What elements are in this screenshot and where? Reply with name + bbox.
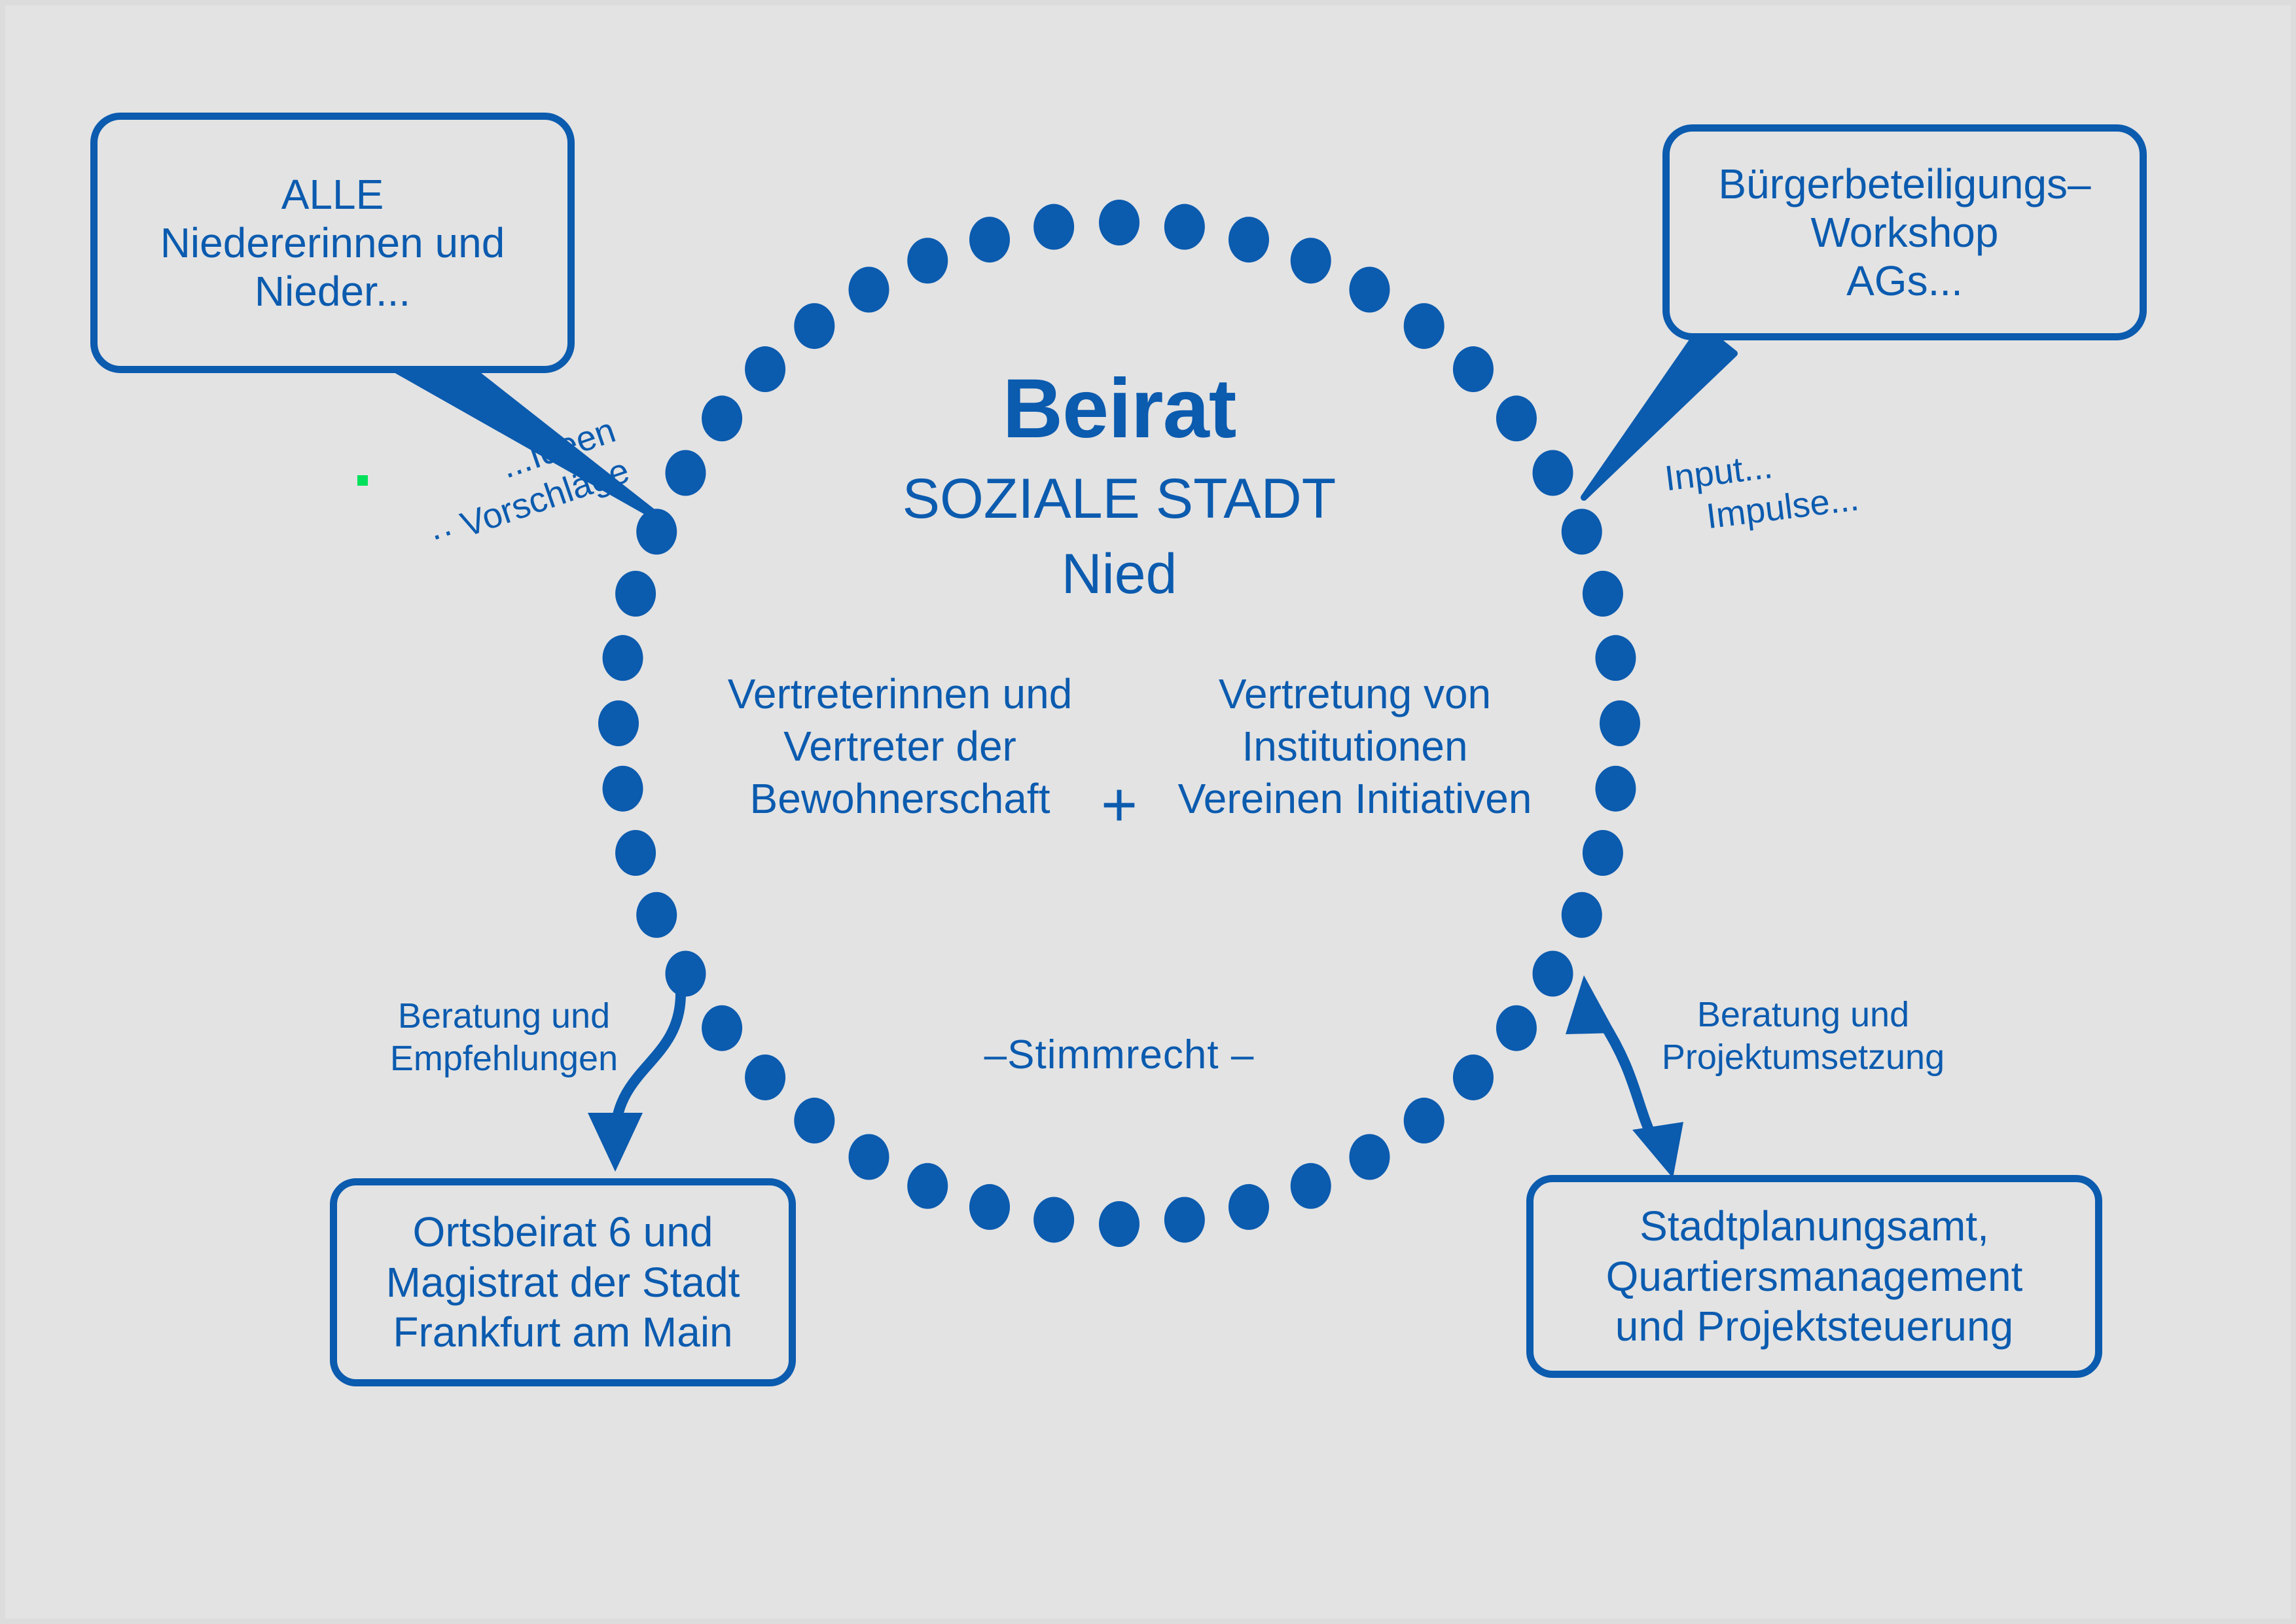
subtitle-soziale-stadt: SOZIALE STADT <box>825 468 1414 530</box>
arrowhead-down-left <box>588 1113 643 1172</box>
column-right-line: Vereinen <box>1178 775 1344 822</box>
speech-bubble-alle-niedererinnen[interactable]: ALLE Niedererinnen und Nieder... <box>90 113 575 373</box>
label-line: Empfehlungen <box>367 1038 641 1080</box>
green-marker-dot <box>357 475 368 486</box>
column-right-line: Vertretung <box>1219 670 1412 717</box>
ring-dot <box>745 1055 785 1100</box>
ring-dot <box>1229 217 1269 262</box>
label-beratung-projektumsetzung: Beratung und Projektumsetzung <box>1630 994 1977 1079</box>
label-line: Beratung und <box>367 995 641 1038</box>
ring-dot <box>1164 204 1205 250</box>
column-institutionen: Vertretung von Institutionen Vereinen In… <box>1172 668 1538 825</box>
ring-dot <box>1033 204 1074 250</box>
ring-dot <box>907 1163 948 1209</box>
ring-dot <box>1600 700 1640 746</box>
ring-dot <box>1533 951 1573 997</box>
column-right-line: Institutionen <box>1242 723 1467 770</box>
box-ortsbeirat-magistrat[interactable]: Ortsbeirat 6 und Magistrat der Stadt Fra… <box>330 1178 796 1386</box>
ring-dot <box>1164 1197 1205 1242</box>
ring-dot <box>1583 830 1623 876</box>
column-right-line: Initiativen <box>1355 775 1532 822</box>
column-left-line: Vertreter <box>783 723 944 770</box>
box-stadtplanungsamt[interactable]: Stadtplanungsamt, Quartiersmanagement un… <box>1526 1175 2102 1378</box>
column-left-line: der <box>956 723 1016 770</box>
label-line: Beratung und <box>1630 994 1977 1036</box>
ring-dot <box>636 892 677 938</box>
bubble-line: Workshop <box>1811 208 1999 257</box>
ring-dot <box>702 395 742 441</box>
ring-dot <box>665 951 706 997</box>
ring-dot <box>615 571 656 617</box>
bubble-line: Nieder... <box>255 267 410 316</box>
box-line: Frankfurt am Main <box>393 1307 732 1358</box>
ring-dot <box>1229 1184 1269 1230</box>
column-right-line: von <box>1424 670 1491 717</box>
ring-dot <box>1291 1163 1331 1209</box>
ring-dot <box>1583 571 1623 617</box>
ring-dot <box>1350 1134 1390 1180</box>
label-line: Projektumsetzung <box>1630 1036 1977 1079</box>
ring-dot <box>615 830 656 876</box>
stimmrecht-note: –Stimmrecht – <box>903 1033 1335 1077</box>
speech-bubble-buergerbeteiligung[interactable]: Bürgerbeteiligungs– Workshop AGs... <box>1662 124 2147 340</box>
ring-dot <box>1350 266 1390 312</box>
page-title: Beirat <box>857 363 1381 456</box>
column-left-line: und <box>1003 670 1073 717</box>
ring-dot <box>969 1184 1010 1230</box>
ring-dot <box>1595 635 1636 681</box>
ring-dot <box>907 238 948 283</box>
ring-dot <box>1595 766 1636 812</box>
ring-dot <box>794 1098 834 1144</box>
ring-dot <box>1453 346 1494 392</box>
column-bewohnerschaft: Vertreterinnen und Vertreter der Bewohne… <box>697 668 1103 825</box>
ring-dot <box>1496 1005 1537 1051</box>
ring-dot <box>603 766 643 812</box>
ring-dot <box>849 266 889 312</box>
ring-dot <box>794 303 834 349</box>
column-left-line: Bewohnerschaft <box>750 775 1050 822</box>
box-line: Quartiersmanagement <box>1606 1252 2023 1302</box>
label-beratung-empfehlungen: Beratung und Empfehlungen <box>367 995 641 1080</box>
bubble-line: Niedererinnen und <box>160 219 505 267</box>
box-line: Stadtplanungsamt, <box>1640 1201 1989 1252</box>
ring-dot <box>969 217 1010 262</box>
ring-dot <box>598 700 639 746</box>
ring-dot <box>603 635 643 681</box>
box-line: Magistrat der Stadt <box>386 1257 740 1308</box>
ring-dot <box>1033 1197 1074 1242</box>
ring-dot <box>665 450 706 496</box>
ring-dot <box>702 1005 742 1051</box>
diagram-canvas: Beirat SOZIALE STADT Nied Vertreterinnen… <box>0 0 2296 1624</box>
ring-dot <box>1099 1201 1139 1247</box>
ring-dot <box>849 1134 889 1180</box>
column-left-line: Vertreterinnen <box>728 670 991 717</box>
ring-dot <box>1562 892 1602 938</box>
ring-dot <box>1562 509 1602 554</box>
ring-dot <box>1291 238 1331 283</box>
bubble-line: Bürgerbeteiligungs– <box>1718 160 2090 208</box>
ring-dot <box>1496 395 1537 441</box>
ring-dot <box>1404 303 1444 349</box>
arrowhead-up-right <box>1566 975 1615 1034</box>
box-line: und Projektsteuerung <box>1615 1301 2013 1352</box>
bubble-line: ALLE <box>281 170 384 219</box>
ring-dot <box>745 346 785 392</box>
ring-dot <box>1453 1055 1494 1100</box>
ring-dot <box>1404 1098 1444 1144</box>
ring-dot <box>1533 450 1573 496</box>
bubble-line: AGs... <box>1846 257 1963 305</box>
subtitle-nied: Nied <box>857 543 1381 605</box>
arrowhead-down-right <box>1632 1122 1683 1178</box>
plus-icon: + <box>1073 774 1165 837</box>
ring-dot <box>1099 200 1139 245</box>
box-line: Ortsbeirat 6 und <box>413 1207 713 1257</box>
